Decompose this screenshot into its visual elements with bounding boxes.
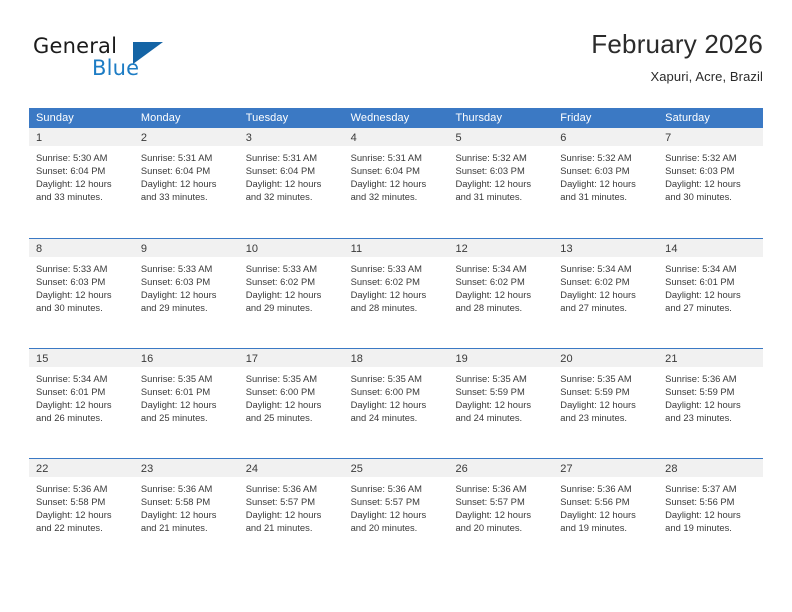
sunrise-text: Sunrise: 5:35 AM [246, 372, 338, 385]
day-info: Sunrise: 5:35 AM Sunset: 6:00 PM Dayligh… [239, 367, 344, 424]
day-number-band: 22 [29, 459, 134, 477]
sunrise-text: Sunrise: 5:36 AM [665, 372, 757, 385]
sunset-text: Sunset: 6:01 PM [36, 385, 128, 398]
sunset-text: Sunset: 6:02 PM [560, 275, 652, 288]
day-number: 17 [246, 353, 258, 365]
sunrise-text: Sunrise: 5:33 AM [351, 262, 443, 275]
daylight-text: Daylight: 12 hours and 33 minutes. [36, 177, 128, 203]
week-row: 15 Sunrise: 5:34 AM Sunset: 6:01 PM Dayl… [29, 348, 763, 458]
sunset-text: Sunset: 6:02 PM [246, 275, 338, 288]
day-number: 16 [141, 353, 153, 365]
daylight-text: Daylight: 12 hours and 19 minutes. [665, 508, 757, 534]
day-cell[interactable]: 7 Sunrise: 5:32 AM Sunset: 6:03 PM Dayli… [658, 128, 763, 238]
day-cell[interactable]: 5 Sunrise: 5:32 AM Sunset: 6:03 PM Dayli… [448, 128, 553, 238]
day-cell[interactable]: 28 Sunrise: 5:37 AM Sunset: 5:56 PM Dayl… [658, 459, 763, 568]
daylight-text: Daylight: 12 hours and 20 minutes. [351, 508, 443, 534]
day-info: Sunrise: 5:35 AM Sunset: 6:01 PM Dayligh… [134, 367, 239, 424]
day-number: 13 [560, 243, 572, 255]
day-cell[interactable]: 26 Sunrise: 5:36 AM Sunset: 5:57 PM Dayl… [448, 459, 553, 568]
day-cell[interactable]: 14 Sunrise: 5:34 AM Sunset: 6:01 PM Dayl… [658, 239, 763, 348]
daylight-text: Daylight: 12 hours and 23 minutes. [560, 398, 652, 424]
sunset-text: Sunset: 6:01 PM [665, 275, 757, 288]
sunrise-text: Sunrise: 5:36 AM [141, 482, 233, 495]
daylight-text: Daylight: 12 hours and 27 minutes. [665, 288, 757, 314]
sunrise-text: Sunrise: 5:35 AM [560, 372, 652, 385]
day-number-band: 9 [134, 239, 239, 257]
sunrise-text: Sunrise: 5:33 AM [141, 262, 233, 275]
day-cell[interactable]: 19 Sunrise: 5:35 AM Sunset: 5:59 PM Dayl… [448, 349, 553, 458]
weekday-friday: Friday [553, 108, 658, 128]
sunset-text: Sunset: 5:57 PM [455, 495, 547, 508]
day-number-band: 26 [448, 459, 553, 477]
sunset-text: Sunset: 6:03 PM [665, 164, 757, 177]
day-info: Sunrise: 5:31 AM Sunset: 6:04 PM Dayligh… [134, 146, 239, 203]
day-info: Sunrise: 5:30 AM Sunset: 6:04 PM Dayligh… [29, 146, 134, 203]
day-info: Sunrise: 5:32 AM Sunset: 6:03 PM Dayligh… [448, 146, 553, 203]
day-cell[interactable]: 15 Sunrise: 5:34 AM Sunset: 6:01 PM Dayl… [29, 349, 134, 458]
sunrise-text: Sunrise: 5:36 AM [246, 482, 338, 495]
day-cell[interactable]: 27 Sunrise: 5:36 AM Sunset: 5:56 PM Dayl… [553, 459, 658, 568]
sunrise-text: Sunrise: 5:32 AM [665, 151, 757, 164]
day-number-band: 25 [344, 459, 449, 477]
sunset-text: Sunset: 5:58 PM [141, 495, 233, 508]
day-number-band: 27 [553, 459, 658, 477]
day-number: 1 [36, 132, 42, 144]
day-number-band: 18 [344, 349, 449, 367]
sunrise-text: Sunrise: 5:35 AM [141, 372, 233, 385]
sunrise-text: Sunrise: 5:36 AM [351, 482, 443, 495]
day-info: Sunrise: 5:36 AM Sunset: 5:58 PM Dayligh… [29, 477, 134, 534]
page-subtitle: Xapuri, Acre, Brazil [591, 67, 763, 87]
day-cell[interactable]: 22 Sunrise: 5:36 AM Sunset: 5:58 PM Dayl… [29, 459, 134, 568]
daylight-text: Daylight: 12 hours and 26 minutes. [36, 398, 128, 424]
weekday-sunday: Sunday [29, 108, 134, 128]
day-cell[interactable]: 25 Sunrise: 5:36 AM Sunset: 5:57 PM Dayl… [344, 459, 449, 568]
sunset-text: Sunset: 5:56 PM [665, 495, 757, 508]
day-info: Sunrise: 5:31 AM Sunset: 6:04 PM Dayligh… [239, 146, 344, 203]
sunset-text: Sunset: 6:03 PM [36, 275, 128, 288]
sunset-text: Sunset: 6:03 PM [141, 275, 233, 288]
daylight-text: Daylight: 12 hours and 33 minutes. [141, 177, 233, 203]
sunrise-text: Sunrise: 5:36 AM [455, 482, 547, 495]
daylight-text: Daylight: 12 hours and 27 minutes. [560, 288, 652, 314]
sunset-text: Sunset: 6:02 PM [351, 275, 443, 288]
day-number-band: 11 [344, 239, 449, 257]
page-header: General Blue February 2026 Xapuri, Acre,… [29, 28, 763, 100]
sunset-text: Sunset: 5:56 PM [560, 495, 652, 508]
day-number: 25 [351, 463, 363, 475]
day-info: Sunrise: 5:34 AM Sunset: 6:01 PM Dayligh… [29, 367, 134, 424]
sunset-text: Sunset: 6:01 PM [141, 385, 233, 398]
day-info: Sunrise: 5:36 AM Sunset: 5:57 PM Dayligh… [448, 477, 553, 534]
day-number-band: 14 [658, 239, 763, 257]
day-info: Sunrise: 5:36 AM Sunset: 5:56 PM Dayligh… [553, 477, 658, 534]
day-number: 23 [141, 463, 153, 475]
daylight-text: Daylight: 12 hours and 29 minutes. [246, 288, 338, 314]
daylight-text: Daylight: 12 hours and 20 minutes. [455, 508, 547, 534]
day-number: 4 [351, 132, 357, 144]
day-info: Sunrise: 5:36 AM Sunset: 5:59 PM Dayligh… [658, 367, 763, 424]
day-number: 24 [246, 463, 258, 475]
day-number: 5 [455, 132, 461, 144]
day-number-band: 28 [658, 459, 763, 477]
day-number-band: 2 [134, 128, 239, 146]
day-number: 11 [351, 243, 363, 255]
sunset-text: Sunset: 6:02 PM [455, 275, 547, 288]
daylight-text: Daylight: 12 hours and 29 minutes. [141, 288, 233, 314]
daylight-text: Daylight: 12 hours and 32 minutes. [246, 177, 338, 203]
day-info: Sunrise: 5:34 AM Sunset: 6:01 PM Dayligh… [658, 257, 763, 314]
day-info: Sunrise: 5:36 AM Sunset: 5:57 PM Dayligh… [344, 477, 449, 534]
sunrise-text: Sunrise: 5:34 AM [560, 262, 652, 275]
brand-logo[interactable]: General Blue [33, 34, 223, 90]
day-info: Sunrise: 5:35 AM Sunset: 6:00 PM Dayligh… [344, 367, 449, 424]
weekday-tuesday: Tuesday [239, 108, 344, 128]
brand-name-general: General [33, 34, 117, 58]
day-info: Sunrise: 5:36 AM Sunset: 5:58 PM Dayligh… [134, 477, 239, 534]
sunset-text: Sunset: 6:04 PM [351, 164, 443, 177]
sunrise-text: Sunrise: 5:34 AM [455, 262, 547, 275]
day-number: 15 [36, 353, 48, 365]
daylight-text: Daylight: 12 hours and 25 minutes. [141, 398, 233, 424]
day-number-band: 10 [239, 239, 344, 257]
sunrise-text: Sunrise: 5:34 AM [36, 372, 128, 385]
day-info: Sunrise: 5:33 AM Sunset: 6:02 PM Dayligh… [239, 257, 344, 314]
day-number-band: 19 [448, 349, 553, 367]
day-cell[interactable]: 4 Sunrise: 5:31 AM Sunset: 6:04 PM Dayli… [344, 128, 449, 238]
day-cell[interactable]: 17 Sunrise: 5:35 AM Sunset: 6:00 PM Dayl… [239, 349, 344, 458]
daylight-text: Daylight: 12 hours and 22 minutes. [36, 508, 128, 534]
day-cell[interactable]: 21 Sunrise: 5:36 AM Sunset: 5:59 PM Dayl… [658, 349, 763, 458]
day-number: 22 [36, 463, 48, 475]
calendar-page: General Blue February 2026 Xapuri, Acre,… [0, 0, 792, 612]
sunrise-text: Sunrise: 5:34 AM [665, 262, 757, 275]
day-info: Sunrise: 5:33 AM Sunset: 6:03 PM Dayligh… [29, 257, 134, 314]
daylight-text: Daylight: 12 hours and 19 minutes. [560, 508, 652, 534]
day-number-band: 16 [134, 349, 239, 367]
day-cell[interactable]: 10 Sunrise: 5:33 AM Sunset: 6:02 PM Dayl… [239, 239, 344, 348]
day-cell[interactable]: 2 Sunrise: 5:31 AM Sunset: 6:04 PM Dayli… [134, 128, 239, 238]
day-number: 18 [351, 353, 363, 365]
day-info: Sunrise: 5:33 AM Sunset: 6:02 PM Dayligh… [344, 257, 449, 314]
title-block: February 2026 Xapuri, Acre, Brazil [591, 28, 763, 87]
day-info: Sunrise: 5:35 AM Sunset: 5:59 PM Dayligh… [553, 367, 658, 424]
sunrise-text: Sunrise: 5:36 AM [36, 482, 128, 495]
day-cell[interactable]: 8 Sunrise: 5:33 AM Sunset: 6:03 PM Dayli… [29, 239, 134, 348]
daylight-text: Daylight: 12 hours and 31 minutes. [455, 177, 547, 203]
day-info: Sunrise: 5:37 AM Sunset: 5:56 PM Dayligh… [658, 477, 763, 534]
day-number-band: 4 [344, 128, 449, 146]
sunrise-text: Sunrise: 5:31 AM [141, 151, 233, 164]
sunset-text: Sunset: 5:59 PM [455, 385, 547, 398]
day-info: Sunrise: 5:34 AM Sunset: 6:02 PM Dayligh… [553, 257, 658, 314]
day-cell[interactable]: 12 Sunrise: 5:34 AM Sunset: 6:02 PM Dayl… [448, 239, 553, 348]
daylight-text: Daylight: 12 hours and 21 minutes. [141, 508, 233, 534]
sunset-text: Sunset: 6:03 PM [560, 164, 652, 177]
day-number-band: 12 [448, 239, 553, 257]
daylight-text: Daylight: 12 hours and 30 minutes. [36, 288, 128, 314]
weekday-monday: Monday [134, 108, 239, 128]
week-row: 22 Sunrise: 5:36 AM Sunset: 5:58 PM Dayl… [29, 458, 763, 568]
day-cell[interactable]: 20 Sunrise: 5:35 AM Sunset: 5:59 PM Dayl… [553, 349, 658, 458]
day-number-band: 23 [134, 459, 239, 477]
sunset-text: Sunset: 5:57 PM [246, 495, 338, 508]
week-row: 8 Sunrise: 5:33 AM Sunset: 6:03 PM Dayli… [29, 238, 763, 348]
day-number-band: 5 [448, 128, 553, 146]
sunset-text: Sunset: 6:04 PM [246, 164, 338, 177]
day-cell[interactable]: 3 Sunrise: 5:31 AM Sunset: 6:04 PM Dayli… [239, 128, 344, 238]
sunrise-text: Sunrise: 5:31 AM [351, 151, 443, 164]
day-number-band: 21 [658, 349, 763, 367]
day-number: 26 [455, 463, 467, 475]
sunset-text: Sunset: 5:58 PM [36, 495, 128, 508]
page-title: February 2026 [591, 28, 763, 60]
day-info: Sunrise: 5:36 AM Sunset: 5:57 PM Dayligh… [239, 477, 344, 534]
sunset-text: Sunset: 6:03 PM [455, 164, 547, 177]
sunset-text: Sunset: 5:59 PM [665, 385, 757, 398]
day-number-band: 7 [658, 128, 763, 146]
day-number: 6 [560, 132, 566, 144]
day-number-band: 24 [239, 459, 344, 477]
daylight-text: Daylight: 12 hours and 32 minutes. [351, 177, 443, 203]
sunset-text: Sunset: 6:04 PM [36, 164, 128, 177]
sunrise-text: Sunrise: 5:35 AM [351, 372, 443, 385]
day-number: 27 [560, 463, 572, 475]
daylight-text: Daylight: 12 hours and 25 minutes. [246, 398, 338, 424]
day-cell[interactable]: 9 Sunrise: 5:33 AM Sunset: 6:03 PM Dayli… [134, 239, 239, 348]
sunrise-text: Sunrise: 5:33 AM [246, 262, 338, 275]
day-number: 10 [246, 243, 258, 255]
day-cell[interactable]: 24 Sunrise: 5:36 AM Sunset: 5:57 PM Dayl… [239, 459, 344, 568]
day-info: Sunrise: 5:32 AM Sunset: 6:03 PM Dayligh… [553, 146, 658, 203]
weekday-header-row: Sunday Monday Tuesday Wednesday Thursday… [29, 108, 763, 128]
daylight-text: Daylight: 12 hours and 24 minutes. [351, 398, 443, 424]
week-row: 1 Sunrise: 5:30 AM Sunset: 6:04 PM Dayli… [29, 128, 763, 238]
day-number: 14 [665, 243, 677, 255]
calendar-grid: Sunday Monday Tuesday Wednesday Thursday… [29, 108, 763, 568]
day-number: 20 [560, 353, 572, 365]
day-number: 2 [141, 132, 147, 144]
daylight-text: Daylight: 12 hours and 24 minutes. [455, 398, 547, 424]
day-number: 7 [665, 132, 671, 144]
daylight-text: Daylight: 12 hours and 31 minutes. [560, 177, 652, 203]
day-cell[interactable]: 11 Sunrise: 5:33 AM Sunset: 6:02 PM Dayl… [344, 239, 449, 348]
weekday-saturday: Saturday [658, 108, 763, 128]
day-number-band: 3 [239, 128, 344, 146]
sunrise-text: Sunrise: 5:37 AM [665, 482, 757, 495]
day-number: 12 [455, 243, 467, 255]
day-number-band: 8 [29, 239, 134, 257]
day-number-band: 6 [553, 128, 658, 146]
day-number-band: 15 [29, 349, 134, 367]
weekday-wednesday: Wednesday [344, 108, 449, 128]
sunset-text: Sunset: 5:57 PM [351, 495, 443, 508]
day-number-band: 20 [553, 349, 658, 367]
daylight-text: Daylight: 12 hours and 21 minutes. [246, 508, 338, 534]
day-number: 28 [665, 463, 677, 475]
day-cell[interactable]: 6 Sunrise: 5:32 AM Sunset: 6:03 PM Dayli… [553, 128, 658, 238]
sunset-text: Sunset: 6:04 PM [141, 164, 233, 177]
day-cell[interactable]: 23 Sunrise: 5:36 AM Sunset: 5:58 PM Dayl… [134, 459, 239, 568]
sunrise-text: Sunrise: 5:32 AM [455, 151, 547, 164]
sunrise-text: Sunrise: 5:31 AM [246, 151, 338, 164]
day-cell[interactable]: 18 Sunrise: 5:35 AM Sunset: 6:00 PM Dayl… [344, 349, 449, 458]
sunset-text: Sunset: 6:00 PM [246, 385, 338, 398]
day-number: 19 [455, 353, 467, 365]
day-cell[interactable]: 16 Sunrise: 5:35 AM Sunset: 6:01 PM Dayl… [134, 349, 239, 458]
day-info: Sunrise: 5:32 AM Sunset: 6:03 PM Dayligh… [658, 146, 763, 203]
day-info: Sunrise: 5:35 AM Sunset: 5:59 PM Dayligh… [448, 367, 553, 424]
sunrise-text: Sunrise: 5:33 AM [36, 262, 128, 275]
daylight-text: Daylight: 12 hours and 30 minutes. [665, 177, 757, 203]
day-number-band: 17 [239, 349, 344, 367]
sunrise-text: Sunrise: 5:32 AM [560, 151, 652, 164]
daylight-text: Daylight: 12 hours and 23 minutes. [665, 398, 757, 424]
daylight-text: Daylight: 12 hours and 28 minutes. [455, 288, 547, 314]
day-number-band: 1 [29, 128, 134, 146]
daylight-text: Daylight: 12 hours and 28 minutes. [351, 288, 443, 314]
sunset-text: Sunset: 5:59 PM [560, 385, 652, 398]
sunrise-text: Sunrise: 5:35 AM [455, 372, 547, 385]
day-number-band: 13 [553, 239, 658, 257]
day-cell[interactable]: 1 Sunrise: 5:30 AM Sunset: 6:04 PM Dayli… [29, 128, 134, 238]
sunrise-text: Sunrise: 5:36 AM [560, 482, 652, 495]
brand-name-blue: Blue [92, 56, 139, 80]
day-info: Sunrise: 5:34 AM Sunset: 6:02 PM Dayligh… [448, 257, 553, 314]
sunrise-text: Sunrise: 5:30 AM [36, 151, 128, 164]
day-cell[interactable]: 13 Sunrise: 5:34 AM Sunset: 6:02 PM Dayl… [553, 239, 658, 348]
day-info: Sunrise: 5:33 AM Sunset: 6:03 PM Dayligh… [134, 257, 239, 314]
day-number: 21 [665, 353, 677, 365]
day-number: 3 [246, 132, 252, 144]
day-number: 8 [36, 243, 42, 255]
weekday-thursday: Thursday [448, 108, 553, 128]
sunset-text: Sunset: 6:00 PM [351, 385, 443, 398]
day-number: 9 [141, 243, 147, 255]
day-info: Sunrise: 5:31 AM Sunset: 6:04 PM Dayligh… [344, 146, 449, 203]
